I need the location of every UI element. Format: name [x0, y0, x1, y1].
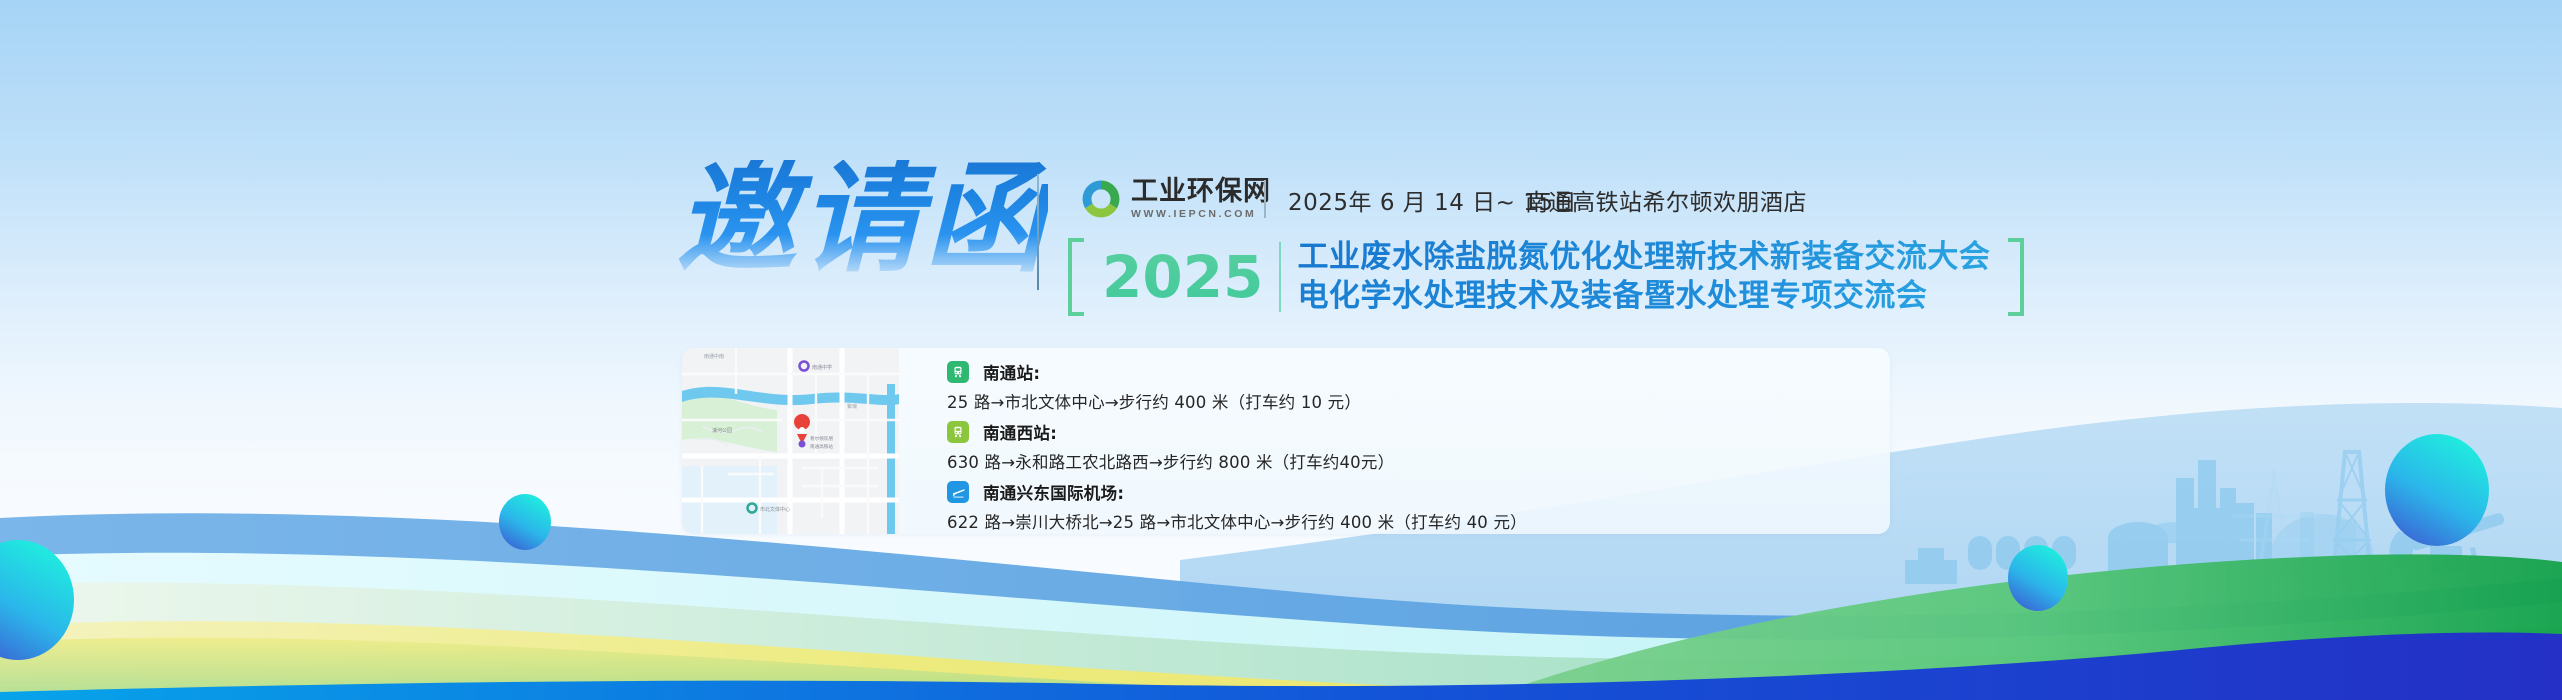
svg-text:濠河公园: 濠河公园	[712, 427, 732, 434]
list-item: 南通兴东国际机场: 622 路→崇川大桥北→25 路→市北文体中心→步行约 40…	[947, 480, 1890, 533]
decorative-orb	[2008, 545, 2068, 611]
ring-logo-icon	[1080, 178, 1122, 220]
meta-divider	[1264, 180, 1266, 218]
event-year: 2025	[1084, 238, 1279, 316]
svg-text:南通中南: 南通中南	[704, 353, 724, 360]
svg-text:紫琅: 紫琅	[847, 403, 857, 410]
conference-line-1: 工业废水除盐脱氮优化处理新技术新装备交流大会	[1297, 238, 1990, 277]
decorative-orb	[499, 494, 551, 550]
svg-text:市北文体中心: 市北文体中心	[760, 506, 790, 513]
plane-icon	[947, 481, 969, 503]
train-icon	[947, 421, 969, 443]
route-title: 南通兴东国际机场:	[983, 480, 1124, 504]
train-icon	[947, 361, 969, 383]
brand-name: 工业环保网	[1131, 178, 1271, 206]
event-venue: 南通高铁站希尔顿欢朋酒店	[1525, 183, 1807, 217]
page-title: 邀请函	[676, 160, 1048, 280]
invitation-banner: 邀请函 工业环保网 WWW.IEPCN.COM 2025年 6 月 14 日~ …	[0, 0, 2562, 700]
svg-text:南通中学: 南通中学	[812, 364, 832, 371]
header-divider	[1037, 174, 1039, 290]
svg-text:南通高铁站: 南通高铁站	[810, 443, 833, 450]
conference-title-block: 2025 工业废水除盐脱氮优化处理新技术新装备交流大会 电化学水处理技术及装备暨…	[1068, 238, 2024, 316]
venue-location-map[interactable]: 南通中学 市北文体中心 濠河公园 南通中南 紫琅 希尔顿欢朋 南通高铁站	[682, 348, 899, 534]
brand-url: WWW.IEPCN.COM	[1131, 208, 1271, 220]
route-description: 622 路→崇川大桥北→25 路→市北文体中心→步行约 400 米（打车约 40…	[947, 509, 1890, 533]
route-title: 南通西站:	[983, 420, 1057, 444]
banner-header: 邀请函 工业环保网 WWW.IEPCN.COM 2025年 6 月 14 日~ …	[0, 0, 2562, 330]
decorative-orb	[2385, 434, 2489, 546]
svg-text:希尔顿欢朋: 希尔顿欢朋	[810, 435, 833, 442]
route-list: 南通站: 25 路→市北文体中心→步行约 400 米（打车约 10 元）	[899, 348, 1890, 534]
list-item: 南通西站: 630 路→永和路工农北路西→步行约 800 米（打车约40元）	[947, 420, 1890, 473]
year-divider	[1279, 242, 1281, 312]
brand-logo: 工业环保网 WWW.IEPCN.COM	[1080, 176, 1271, 222]
route-description: 630 路→永和路工农北路西→步行约 800 米（打车约40元）	[947, 449, 1890, 473]
transport-info-card: 南通中学 市北文体中心 濠河公园 南通中南 紫琅 希尔顿欢朋 南通高铁站	[682, 348, 1890, 534]
route-description: 25 路→市北文体中心→步行约 400 米（打车约 10 元）	[947, 389, 1890, 413]
conference-line-2: 电化学水处理技术及装备暨水处理专项交流会	[1297, 277, 1990, 316]
bracket-left-icon	[1068, 238, 1084, 316]
bracket-right-icon	[2008, 238, 2024, 316]
list-item: 南通站: 25 路→市北文体中心→步行约 400 米（打车约 10 元）	[947, 360, 1890, 413]
route-title: 南通站:	[983, 360, 1040, 384]
